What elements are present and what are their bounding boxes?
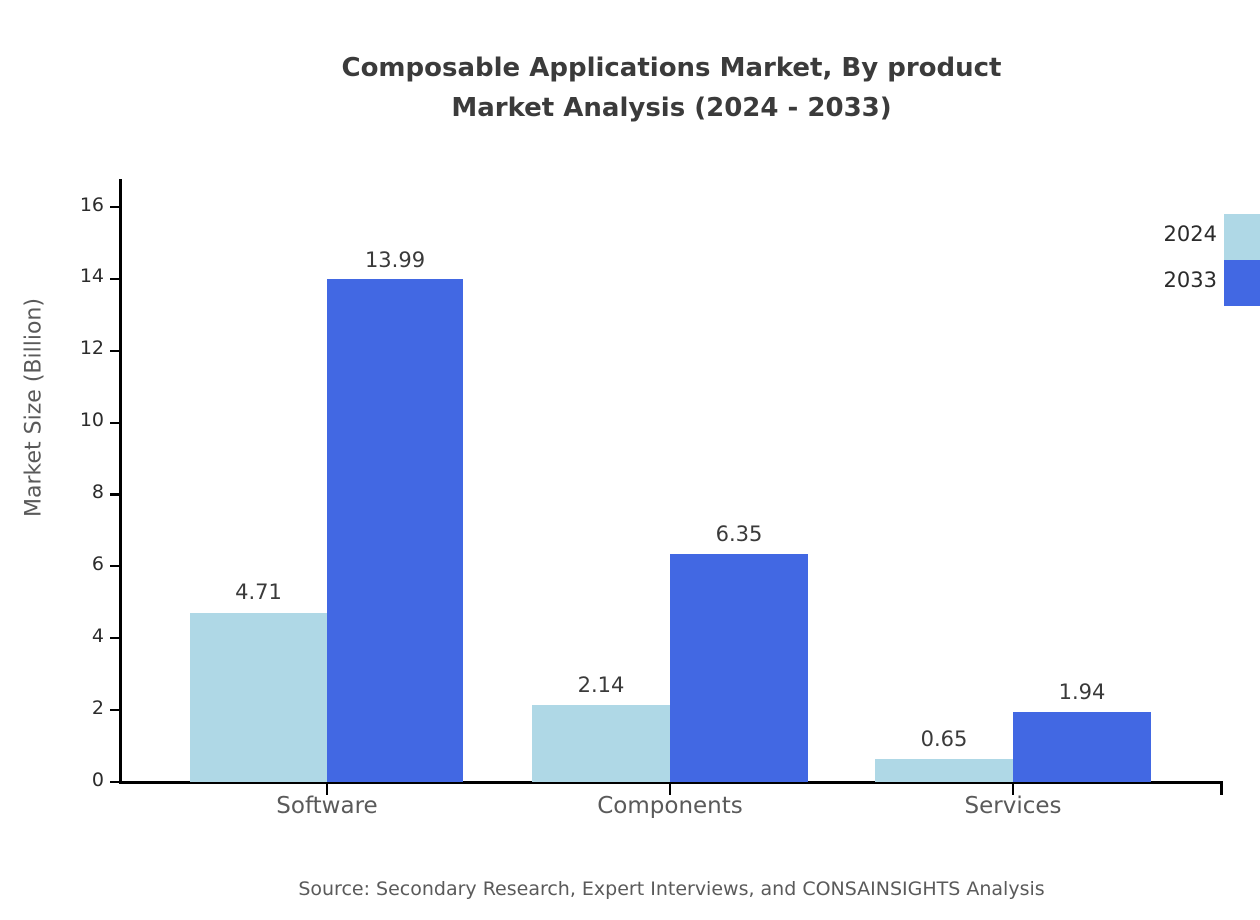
bar-label-services-2033: 1.94 bbox=[982, 680, 1182, 704]
y-axis-label: Market Size (Billion) bbox=[22, 188, 47, 628]
y-tick-label-12: 12 bbox=[34, 337, 104, 359]
legend-label-2024: 2024 bbox=[1135, 222, 1217, 246]
chart-title: Composable Applications Market, By produ… bbox=[0, 48, 1260, 128]
chart-title-line-1: Composable Applications Market, By produ… bbox=[0, 48, 1260, 88]
legend-item-2033[interactable]: 2033 bbox=[1135, 260, 1260, 306]
y-tick-label-16: 16 bbox=[34, 194, 104, 216]
bar-label-software-2033: 13.99 bbox=[295, 248, 495, 272]
legend-label-2033: 2033 bbox=[1135, 268, 1217, 292]
legend-item-2024[interactable]: 2024 bbox=[1135, 214, 1260, 260]
chart-figure: Composable Applications Market, By produ… bbox=[0, 0, 1260, 920]
y-tick-label-0: 0 bbox=[46, 769, 104, 791]
legend-swatch-2024 bbox=[1224, 214, 1260, 260]
x-tick-label-components: Components bbox=[520, 793, 820, 819]
y-tick-label-14: 14 bbox=[34, 265, 104, 287]
x-tick-label-software: Software bbox=[177, 793, 477, 819]
chart-legend: 2024 2033 bbox=[1135, 214, 1260, 314]
y-tick-label-6: 6 bbox=[46, 553, 104, 575]
bar-label-components-2033: 6.35 bbox=[639, 522, 839, 546]
bar-components-2033[interactable] bbox=[670, 554, 808, 782]
legend-swatch-2033 bbox=[1224, 260, 1260, 306]
chart-title-line-2: Market Analysis (2024 - 2033) bbox=[0, 88, 1260, 128]
chart-source-note: Source: Secondary Research, Expert Inter… bbox=[0, 878, 1260, 900]
y-tick-label-4: 4 bbox=[46, 625, 104, 647]
bar-software-2024[interactable] bbox=[190, 613, 327, 782]
y-tick-label-10: 10 bbox=[34, 409, 104, 431]
bar-components-2024[interactable] bbox=[532, 705, 670, 782]
x-tick-label-services: Services bbox=[863, 793, 1163, 819]
bar-software-2033[interactable] bbox=[327, 279, 463, 782]
x-axis-end-tick bbox=[1220, 781, 1223, 795]
bar-services-2033[interactable] bbox=[1013, 712, 1151, 782]
y-tick-label-2: 2 bbox=[46, 697, 104, 719]
y-axis-spine bbox=[119, 179, 122, 784]
bar-services-2024[interactable] bbox=[875, 759, 1013, 782]
y-tick-label-8: 8 bbox=[46, 481, 104, 503]
